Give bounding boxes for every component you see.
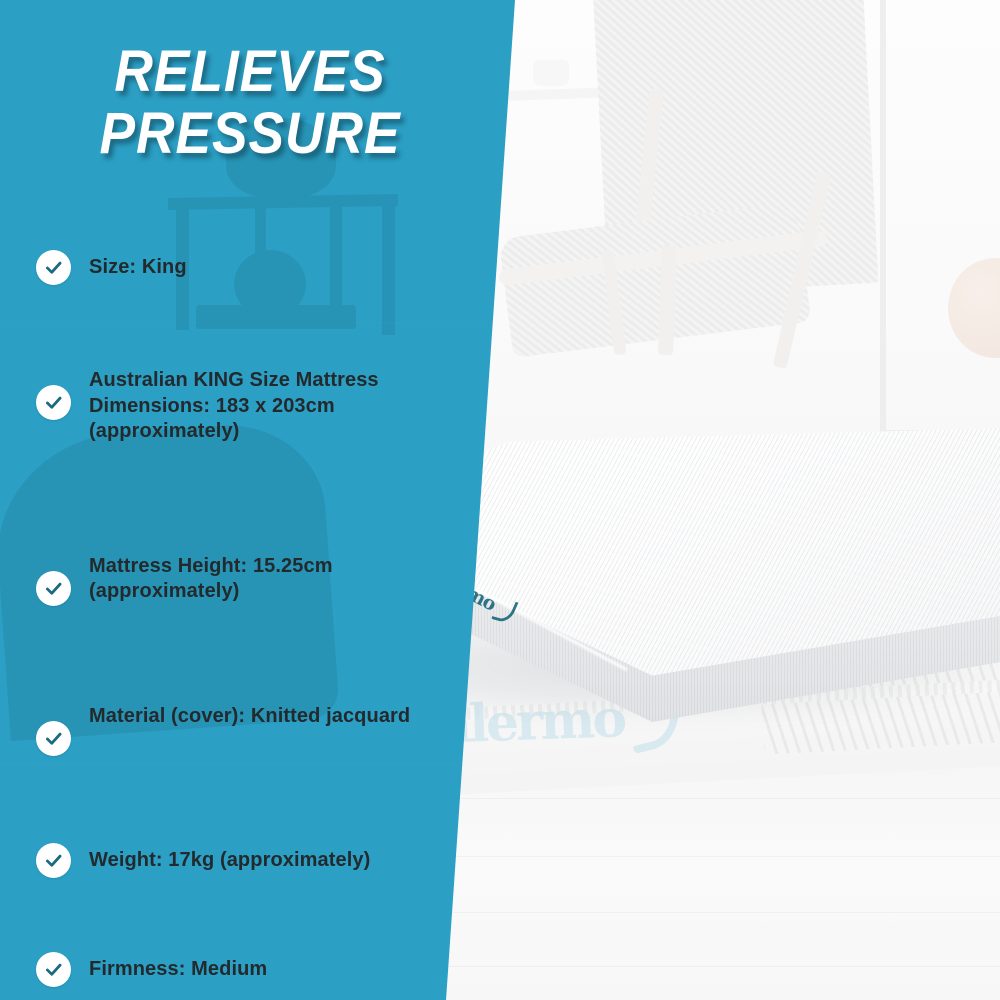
feature-text: Size: King — [89, 250, 187, 281]
window-frame-icon — [880, 0, 886, 450]
feature-text: Mattress Height: 15.25cm (approximately) — [89, 549, 419, 605]
list-item: Size: King — [0, 250, 460, 285]
list-item: Material (cover): Knitted jacquard — [0, 699, 460, 756]
feature-list: Size: King Australian KING Size Mattress… — [0, 250, 460, 551]
list-item: Australian KING Size Mattress Dimensions… — [0, 363, 460, 445]
list-item: Firmness: Medium — [0, 952, 460, 987]
check-circle-icon — [36, 721, 71, 756]
headline-line-2: PRESSURE — [20, 106, 480, 162]
feature-text: Australian KING Size Mattress Dimensions… — [89, 363, 419, 445]
list-item: Weight: 17kg (approximately) — [0, 843, 460, 878]
check-circle-icon — [36, 952, 71, 987]
cup-icon — [533, 60, 569, 86]
page-title: RELIEVES PRESSURE — [0, 44, 500, 163]
feature-text: Material (cover): Knitted jacquard — [89, 699, 410, 730]
check-circle-icon — [36, 571, 71, 606]
list-item: Mattress Height: 15.25cm (approximately) — [0, 549, 460, 606]
product-feature-graphic: palermo palermo RELIEVES PRESSURE — [0, 0, 1000, 1000]
check-circle-icon — [36, 385, 71, 420]
check-circle-icon — [36, 843, 71, 878]
feature-text: Firmness: Medium — [89, 952, 267, 983]
headline-line-1: RELIEVES — [20, 44, 480, 100]
check-circle-icon — [36, 250, 71, 285]
feature-text: Weight: 17kg (approximately) — [89, 843, 370, 874]
